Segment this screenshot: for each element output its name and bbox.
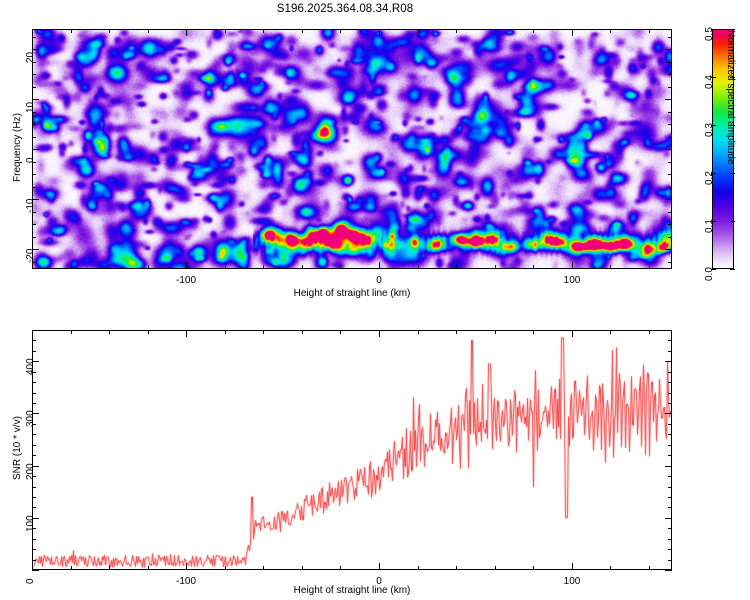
spectrogram-panel: [32, 29, 672, 269]
snr-xtick-minor: [456, 330, 457, 334]
snr-trace: [33, 331, 671, 569]
snr-xtick-minor: [533, 330, 534, 334]
spectrogram-xtick-minor: [610, 265, 611, 269]
spectrogram-ytick-minor: [668, 187, 672, 188]
snr-ytick-minor: [32, 497, 36, 498]
figure-title: S196.2025.364.08.34.R08: [0, 3, 690, 15]
snr-xtick-major: [186, 330, 187, 337]
spectrogram-ytick-minor: [32, 37, 36, 38]
snr-ytick-minor: [668, 539, 672, 540]
snr-ytick-major: [665, 518, 672, 519]
colorbar-tick: [730, 173, 735, 174]
spectrogram-xtick-minor: [71, 29, 72, 33]
spectrogram-xticklabel: 0: [359, 275, 399, 286]
spectrogram-xtick-minor: [418, 265, 419, 269]
spectrogram-xticklabel: 100: [552, 275, 592, 286]
snr-ytick-minor: [668, 487, 672, 488]
spectrogram-image: [33, 30, 671, 268]
snr-panel: [32, 330, 672, 570]
snr-xtick-minor: [340, 566, 341, 570]
snr-xtick-minor: [610, 566, 611, 570]
snr-xtick-major: [572, 563, 573, 570]
spectrogram-yticklabel: -10: [25, 199, 36, 213]
spectrogram-xtick-minor: [32, 29, 33, 33]
snr-xticklabel: 100: [552, 576, 592, 587]
snr-ytick-major: [32, 570, 39, 571]
spectrogram-ytick-minor: [32, 237, 36, 238]
snr-ytick-minor: [668, 393, 672, 394]
spectrogram-ytick-minor: [668, 174, 672, 175]
spectrogram-ytick-minor: [32, 87, 36, 88]
snr-ytick-minor: [32, 403, 36, 404]
spectrogram-xtick-minor: [610, 29, 611, 33]
snr-xtick-minor: [456, 566, 457, 570]
spectrogram-xtick-minor: [495, 29, 496, 33]
spectrogram-ytick-minor: [668, 224, 672, 225]
spectrogram-xtick-minor: [649, 29, 650, 33]
snr-xtick-minor: [109, 330, 110, 334]
spectrogram-xtick-major: [379, 262, 380, 269]
spectrogram-ytick-minor: [668, 62, 672, 63]
spectrogram-ytick-minor: [668, 87, 672, 88]
snr-ytick-minor: [668, 445, 672, 446]
spectrogram-xtick-minor: [71, 265, 72, 269]
spectrogram-xtick-minor: [340, 265, 341, 269]
spectrogram-xtick-minor: [533, 29, 534, 33]
colorbar-ticklabel: 0.3: [704, 123, 715, 137]
snr-xtick-minor: [495, 566, 496, 570]
spectrogram-ytick-minor: [668, 262, 672, 263]
snr-xtick-major: [186, 563, 187, 570]
spectrogram-xtick-minor: [418, 29, 419, 33]
snr-ytick-minor: [32, 330, 36, 331]
snr-ytick-minor: [32, 382, 36, 383]
snr-xtick-minor: [225, 566, 226, 570]
spectrogram-ytick-minor: [668, 137, 672, 138]
snr-xtick-major: [572, 330, 573, 337]
spectrogram-xtick-minor: [302, 29, 303, 33]
spectrogram-xtick-minor: [456, 29, 457, 33]
spectrogram-ytick-minor: [668, 237, 672, 238]
spectrogram-xtick-minor: [533, 265, 534, 269]
snr-ytick-minor: [668, 455, 672, 456]
spectrogram-ytick-minor: [668, 212, 672, 213]
spectrogram-yticklabel: -20: [25, 249, 36, 263]
spectrogram-xtick-minor: [109, 29, 110, 33]
spectrogram-ytick-minor: [668, 74, 672, 75]
snr-ytick-minor: [32, 393, 36, 394]
spectrogram-xtick-minor: [340, 29, 341, 33]
snr-xtick-minor: [302, 566, 303, 570]
spectrogram-xlabel: Height of straight line (km): [232, 288, 472, 299]
spectrogram-xtick-major: [379, 29, 380, 36]
snr-ytick-minor: [668, 340, 672, 341]
snr-ytick-minor: [32, 351, 36, 352]
snr-ytick-minor: [668, 507, 672, 508]
snr-ytick-minor: [668, 403, 672, 404]
spectrogram-xtick-minor: [148, 29, 149, 33]
snr-xtick-minor: [610, 330, 611, 334]
snr-ytick-major: [665, 570, 672, 571]
snr-xtick-minor: [263, 566, 264, 570]
spectrogram-ytick-minor: [32, 187, 36, 188]
spectrogram-ytick-major: [665, 249, 672, 250]
snr-ytick-minor: [668, 434, 672, 435]
spectrogram-ytick-minor: [32, 137, 36, 138]
snr-xtick-minor: [418, 330, 419, 334]
snr-ytick-minor: [668, 560, 672, 561]
snr-ytick-minor: [32, 560, 36, 561]
spectrogram-xtick-minor: [225, 265, 226, 269]
snr-xtick-minor: [340, 330, 341, 334]
snr-ytick-minor: [668, 497, 672, 498]
snr-xtick-minor: [71, 330, 72, 334]
spectrogram-ytick-major: [665, 49, 672, 50]
snr-ytick-minor: [32, 434, 36, 435]
colorbar-tick: [730, 221, 735, 222]
colorbar-ticklabel: 0.0: [704, 267, 715, 281]
spectrogram-ytick-minor: [32, 224, 36, 225]
spectrogram-yticklabel: 20: [25, 52, 36, 63]
spectrogram-xtick-minor: [456, 265, 457, 269]
spectrogram-ylabel: Frequency (Hz): [12, 113, 23, 182]
snr-ytick-minor: [668, 528, 672, 529]
spectrogram-ytick-minor: [668, 37, 672, 38]
snr-ytick-minor: [32, 507, 36, 508]
snr-xtick-minor: [418, 566, 419, 570]
spectrogram-ytick-minor: [668, 162, 672, 163]
snr-ytick-minor: [668, 549, 672, 550]
snr-ylabel: SNR (10 * v/v): [12, 416, 23, 480]
snr-xtick-minor: [495, 330, 496, 334]
spectrogram-xtick-minor: [495, 265, 496, 269]
spectrogram-ytick-major: [32, 149, 39, 150]
spectrogram-xtick-minor: [649, 265, 650, 269]
spectrogram-yticklabel: 0: [25, 157, 36, 163]
spectrogram-xtick-major: [186, 262, 187, 269]
spectrogram-xtick-minor: [302, 265, 303, 269]
spectrogram-ytick-minor: [32, 124, 36, 125]
snr-ytick-minor: [668, 351, 672, 352]
spectrogram-xtick-minor: [148, 265, 149, 269]
snr-xtick-minor: [302, 330, 303, 334]
snr-ytick-minor: [32, 340, 36, 341]
snr-ytick-minor: [668, 372, 672, 373]
snr-xtick-minor: [649, 330, 650, 334]
snr-yticklabel: 200: [25, 463, 36, 480]
spectrogram-ytick-minor: [32, 74, 36, 75]
colorbar-ticklabel: 0.5: [704, 27, 715, 41]
snr-yticklabel: 400: [25, 358, 36, 375]
snr-yticklabel: 100: [25, 515, 36, 532]
snr-xtick-minor: [71, 566, 72, 570]
snr-xtick-minor: [533, 566, 534, 570]
snr-yticklabel: 0: [25, 578, 36, 584]
spectrogram-ytick-minor: [668, 124, 672, 125]
spectrogram-xtick-major: [186, 29, 187, 36]
colorbar-ticklabel: 0.1: [704, 219, 715, 233]
colorbar-tick: [730, 269, 735, 270]
snr-ytick-major: [665, 413, 672, 414]
spectrogram-xtick-minor: [263, 29, 264, 33]
spectrogram-ytick-major: [32, 99, 39, 100]
figure-root: S196.2025.364.08.34.R08 -1000100-20-1001…: [0, 0, 750, 600]
snr-ytick-minor: [32, 445, 36, 446]
colorbar-ticklabel: 0.4: [704, 75, 715, 89]
colorbar-label: Normalized spectral amplitude: [725, 30, 736, 165]
snr-xtick-minor: [649, 566, 650, 570]
spectrogram-yticklabel: 10: [25, 102, 36, 113]
snr-xlabel: Height of straight line (km): [232, 585, 472, 596]
snr-ytick-minor: [668, 382, 672, 383]
snr-xtick-minor: [148, 566, 149, 570]
snr-ytick-major: [665, 361, 672, 362]
snr-xtick-minor: [263, 330, 264, 334]
snr-xtick-minor: [225, 330, 226, 334]
snr-ytick-minor: [668, 424, 672, 425]
spectrogram-ytick-minor: [32, 174, 36, 175]
spectrogram-xtick-major: [572, 29, 573, 36]
snr-xticklabel: -100: [166, 576, 206, 587]
spectrogram-xtick-minor: [32, 265, 33, 269]
snr-ytick-minor: [32, 549, 36, 550]
snr-yticklabel: 300: [25, 410, 36, 427]
spectrogram-xticklabel: -100: [166, 275, 206, 286]
spectrogram-xtick-major: [572, 262, 573, 269]
spectrogram-ytick-major: [32, 49, 39, 50]
snr-xtick-major: [379, 330, 380, 337]
snr-xtick-major: [379, 563, 380, 570]
snr-ytick-minor: [668, 330, 672, 331]
spectrogram-ytick-major: [665, 99, 672, 100]
snr-ytick-minor: [32, 455, 36, 456]
snr-xtick-minor: [148, 330, 149, 334]
colorbar-ticklabel: 0.2: [704, 171, 715, 185]
spectrogram-xtick-minor: [225, 29, 226, 33]
snr-ytick-major: [665, 466, 672, 467]
spectrogram-xtick-minor: [109, 265, 110, 269]
snr-ytick-minor: [32, 539, 36, 540]
snr-ytick-minor: [668, 476, 672, 477]
spectrogram-ytick-major: [665, 199, 672, 200]
spectrogram-ytick-minor: [668, 112, 672, 113]
spectrogram-ytick-major: [665, 149, 672, 150]
snr-ytick-minor: [32, 487, 36, 488]
spectrogram-xtick-minor: [263, 265, 264, 269]
snr-xtick-minor: [109, 566, 110, 570]
